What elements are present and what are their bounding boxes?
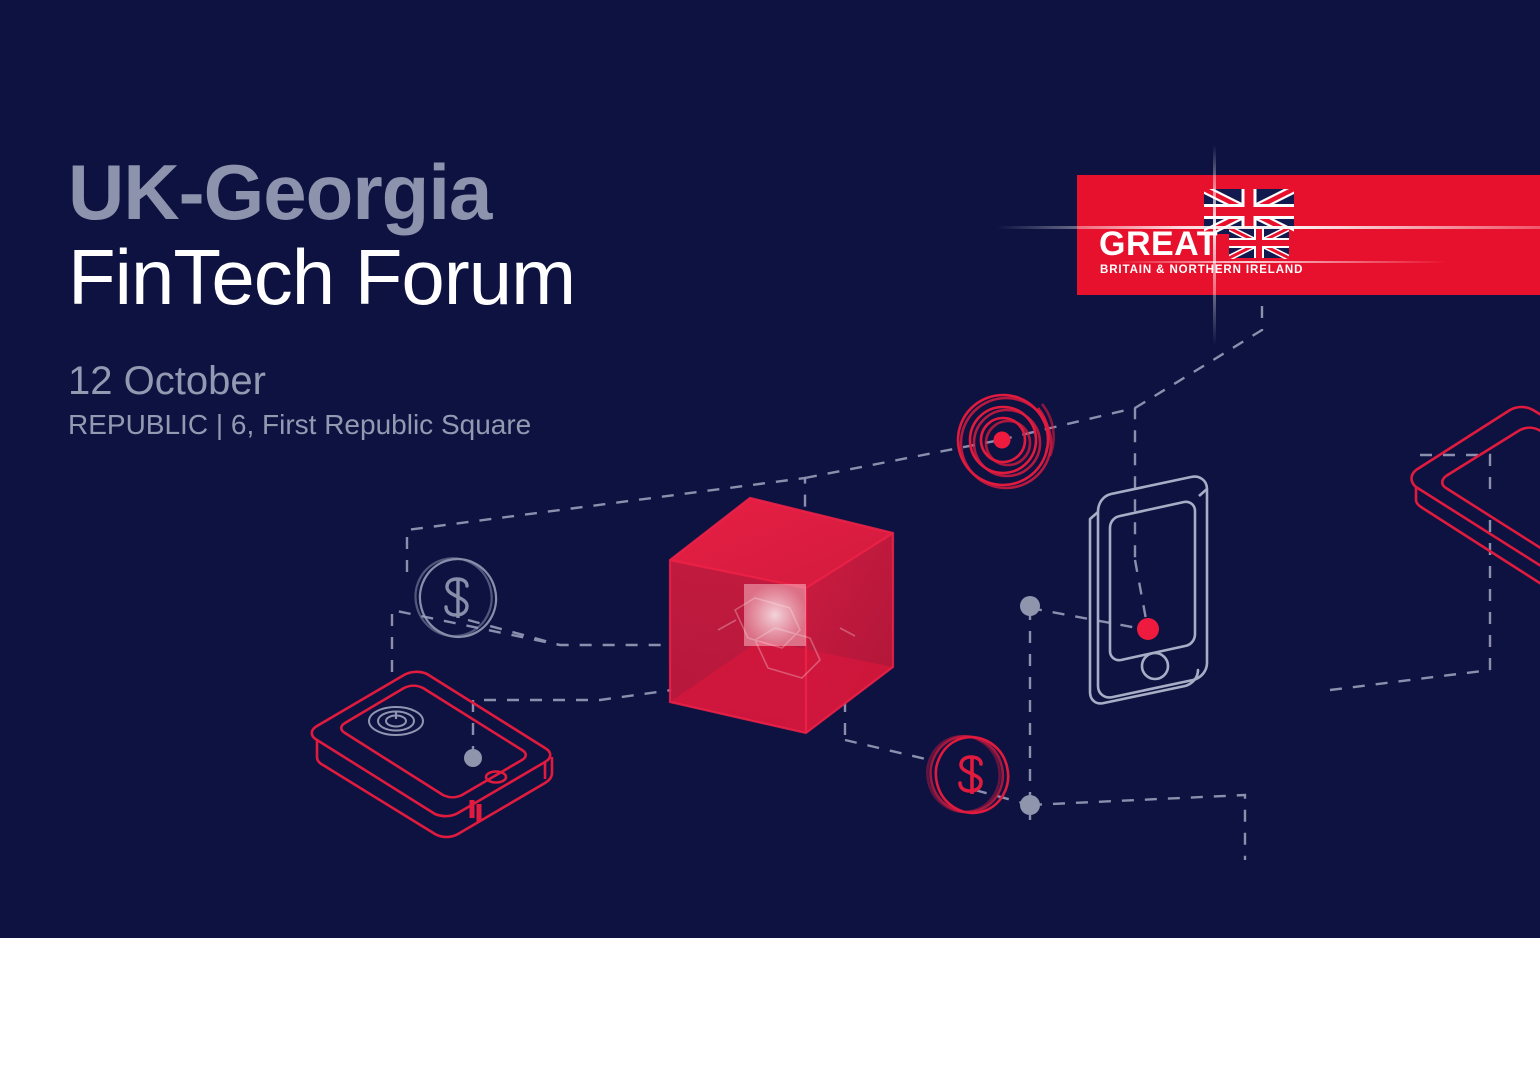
hero-text-block: UK-Georgia FinTech Forum 12 October REPU… bbox=[68, 150, 575, 441]
power-ripple-icon bbox=[369, 707, 423, 735]
sponsor-footer: Hosted by: bbox=[0, 938, 1540, 1080]
union-jack-icon-bottom bbox=[1229, 227, 1289, 259]
tablet-outline-red bbox=[312, 672, 552, 837]
tablet-outline-red-right bbox=[1412, 407, 1540, 596]
node-dot-grey-bottom bbox=[1020, 795, 1040, 815]
phone-outline-grey bbox=[1090, 477, 1207, 704]
event-date: 12 October bbox=[68, 360, 575, 402]
event-venue: REPUBLIC | 6, First Republic Square bbox=[68, 408, 575, 442]
red-cube bbox=[670, 498, 893, 733]
page-title-line-2: FinTech Forum bbox=[68, 234, 575, 321]
radar-core-dot bbox=[994, 432, 1011, 449]
page-title-line-1: UK-Georgia bbox=[68, 150, 575, 234]
great-britain-logo: GREAT BRITAIN & NORTHERN IRELAND bbox=[1077, 175, 1540, 295]
great-wordmark: GREAT bbox=[1099, 227, 1218, 261]
node-dot-red-phone bbox=[1137, 618, 1159, 640]
dollar-coin-icon-red bbox=[919, 728, 1016, 820]
great-subtitle: BRITAIN & NORTHERN IRELAND bbox=[1100, 265, 1303, 277]
node-dot-grey-tablet bbox=[464, 749, 482, 767]
node-dot-grey-center bbox=[1020, 596, 1040, 616]
poster-canvas: UK-Georgia FinTech Forum 12 October REPU… bbox=[0, 0, 1540, 1080]
illustration-canvas bbox=[0, 0, 1540, 940]
